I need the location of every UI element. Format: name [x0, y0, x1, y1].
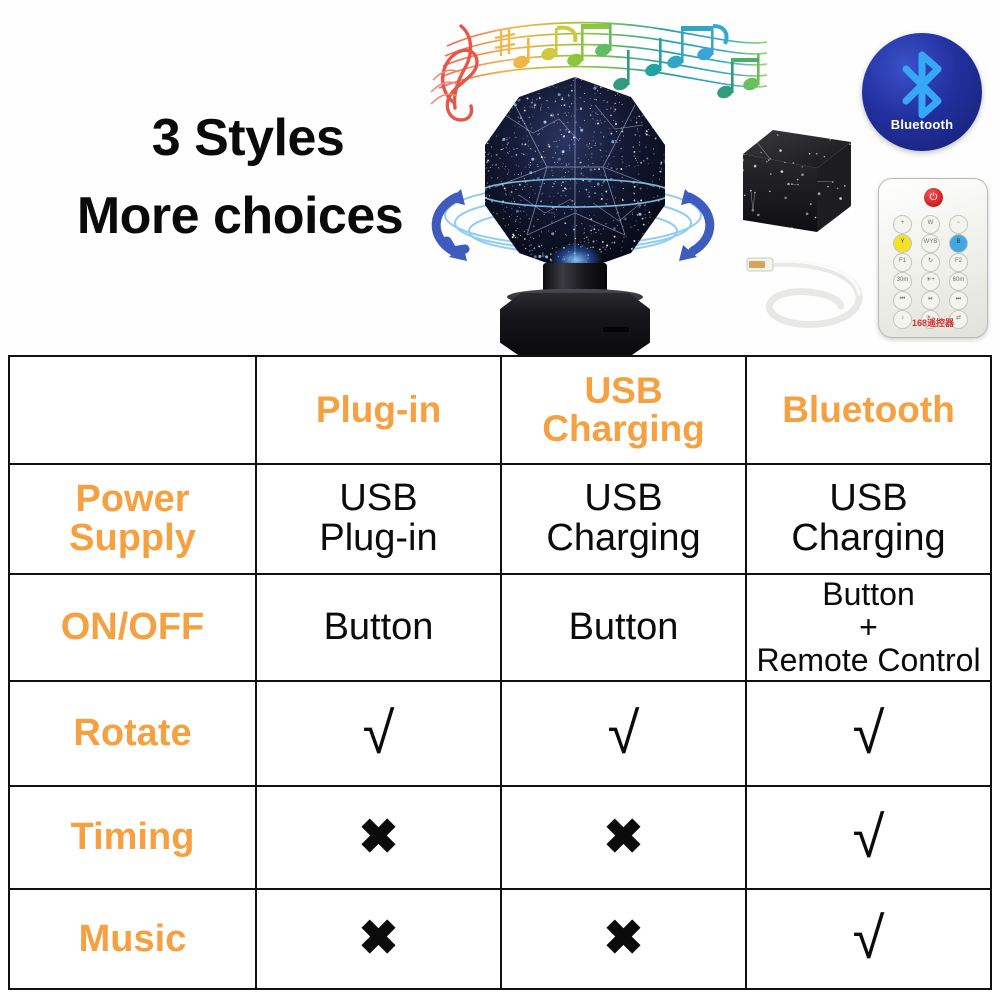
remote-button-[interactable]: ⏮ — [893, 291, 912, 310]
header-col-bluetooth-line1: Bluetooth — [751, 391, 986, 429]
star-projector-lamp — [455, 75, 695, 350]
row-label-power-supply-line2: Supply — [14, 519, 251, 558]
cell-timing-bluetooth: √ — [746, 786, 991, 889]
cell-timing-usb-charging: ✖ — [501, 786, 746, 889]
cell-line2: Plug-in — [261, 519, 496, 559]
cell-line1: Button — [751, 578, 986, 611]
row-label-music-line1: Music — [14, 920, 251, 959]
row-label-on-off: ON/OFF — [9, 574, 256, 681]
cell-on-off-usb-charging: Button — [501, 574, 746, 681]
cell-power-supply-usb-charging: USB Charging — [501, 464, 746, 574]
remote-button-F2[interactable]: F2 — [949, 253, 968, 272]
table-row-rotate: Rotate √ √ √ — [9, 681, 991, 786]
product-hero-banner: 3 Styles More choices — [0, 0, 1000, 355]
headline-line-1: 3 Styles — [58, 112, 438, 164]
feature-comparison-table: Plug-in USB Charging Bluetooth Power Sup… — [8, 355, 992, 990]
remote-button-F1[interactable]: F1 — [893, 253, 912, 272]
remote-button-[interactable]: ↻ — [921, 253, 940, 272]
cell-power-supply-plug-in: USB Plug-in — [256, 464, 501, 574]
header-col-usb-charging-line2: Charging — [506, 410, 741, 448]
cell-line2: Charging — [751, 519, 986, 559]
cell-line1: USB — [261, 479, 496, 519]
remote-button-60m[interactable]: 60m — [949, 272, 968, 291]
cell-line1: USB — [751, 479, 986, 519]
headline-line-2: More choices — [30, 190, 450, 242]
remote-button-30m[interactable]: 30m — [893, 272, 912, 291]
cell-line3: Remote Control — [751, 644, 986, 677]
remote-button-W[interactable]: W — [921, 215, 940, 234]
bluetooth-badge-label: Bluetooth — [862, 117, 982, 132]
lamp-usb-port — [603, 327, 629, 332]
cell-line2: Charging — [506, 519, 741, 559]
cell-rotate-usb-charging: √ — [501, 681, 746, 786]
header-col-usb-charging-line1: USB — [506, 372, 741, 410]
cell-on-off-bluetooth: Button + Remote Control — [746, 574, 991, 681]
table-row-power-supply: Power Supply USB Plug-in USB Charging US… — [9, 464, 991, 574]
cell-music-bluetooth: √ — [746, 889, 991, 989]
bluetooth-icon — [894, 51, 950, 119]
table-row-timing: Timing ✖ ✖ √ — [9, 786, 991, 889]
cell-line1: USB — [506, 479, 741, 519]
row-label-on-off-line1: ON/OFF — [14, 608, 251, 647]
constellation-gift-box — [737, 128, 857, 238]
cell-power-supply-bluetooth: USB Charging — [746, 464, 991, 574]
remote-button-WYB[interactable]: WYB — [921, 234, 940, 253]
cell-rotate-plug-in: √ — [256, 681, 501, 786]
row-label-timing-line1: Timing — [14, 818, 251, 857]
remote-button-[interactable]: − — [949, 215, 968, 234]
remote-button-B[interactable]: B — [949, 234, 968, 253]
remote-button-[interactable]: + — [893, 215, 912, 234]
row-label-music: Music — [9, 889, 256, 989]
header-col-bluetooth: Bluetooth — [746, 356, 991, 464]
header-corner-cell — [9, 356, 256, 464]
cell-line2: + — [751, 611, 986, 644]
header-col-plug-in: Plug-in — [256, 356, 501, 464]
row-label-power-supply-line1: Power — [14, 480, 251, 519]
header-col-usb-charging: USB Charging — [501, 356, 746, 464]
row-label-power-supply: Power Supply — [9, 464, 256, 574]
cell-line1: Button — [261, 608, 496, 648]
cell-rotate-bluetooth: √ — [746, 681, 991, 786]
table-row-on-off: ON/OFF Button Button Button + Remote Con… — [9, 574, 991, 681]
remote-button-Y[interactable]: Y — [893, 234, 912, 253]
cell-line1: Button — [506, 608, 741, 648]
remote-button-[interactable]: ⏯ — [921, 291, 940, 310]
remote-model-label: 168遥控器 — [879, 316, 987, 329]
usb-cable-illustration — [745, 248, 875, 338]
remote-control: ⏻ +W−YWYBBF1↻F230m☀+60m⏮⏯⏭♪☀−⇄ 168遥控器 — [878, 178, 988, 338]
cell-music-plug-in: ✖ — [256, 889, 501, 989]
remote-power-button[interactable]: ⏻ — [924, 188, 943, 207]
row-label-rotate-line1: Rotate — [14, 714, 251, 753]
bluetooth-badge: Bluetooth — [862, 33, 982, 151]
header-col-plug-in-line1: Plug-in — [261, 391, 496, 429]
cell-timing-plug-in: ✖ — [256, 786, 501, 889]
row-label-rotate: Rotate — [9, 681, 256, 786]
remote-button-[interactable]: ☀+ — [921, 272, 940, 291]
cell-on-off-plug-in: Button — [256, 574, 501, 681]
table-header-row: Plug-in USB Charging Bluetooth — [9, 356, 991, 464]
table-row-music: Music ✖ ✖ √ — [9, 889, 991, 989]
lamp-base — [500, 293, 650, 355]
remote-button-[interactable]: ⏭ — [949, 291, 968, 310]
row-label-timing: Timing — [9, 786, 256, 889]
cell-music-usb-charging: ✖ — [501, 889, 746, 989]
